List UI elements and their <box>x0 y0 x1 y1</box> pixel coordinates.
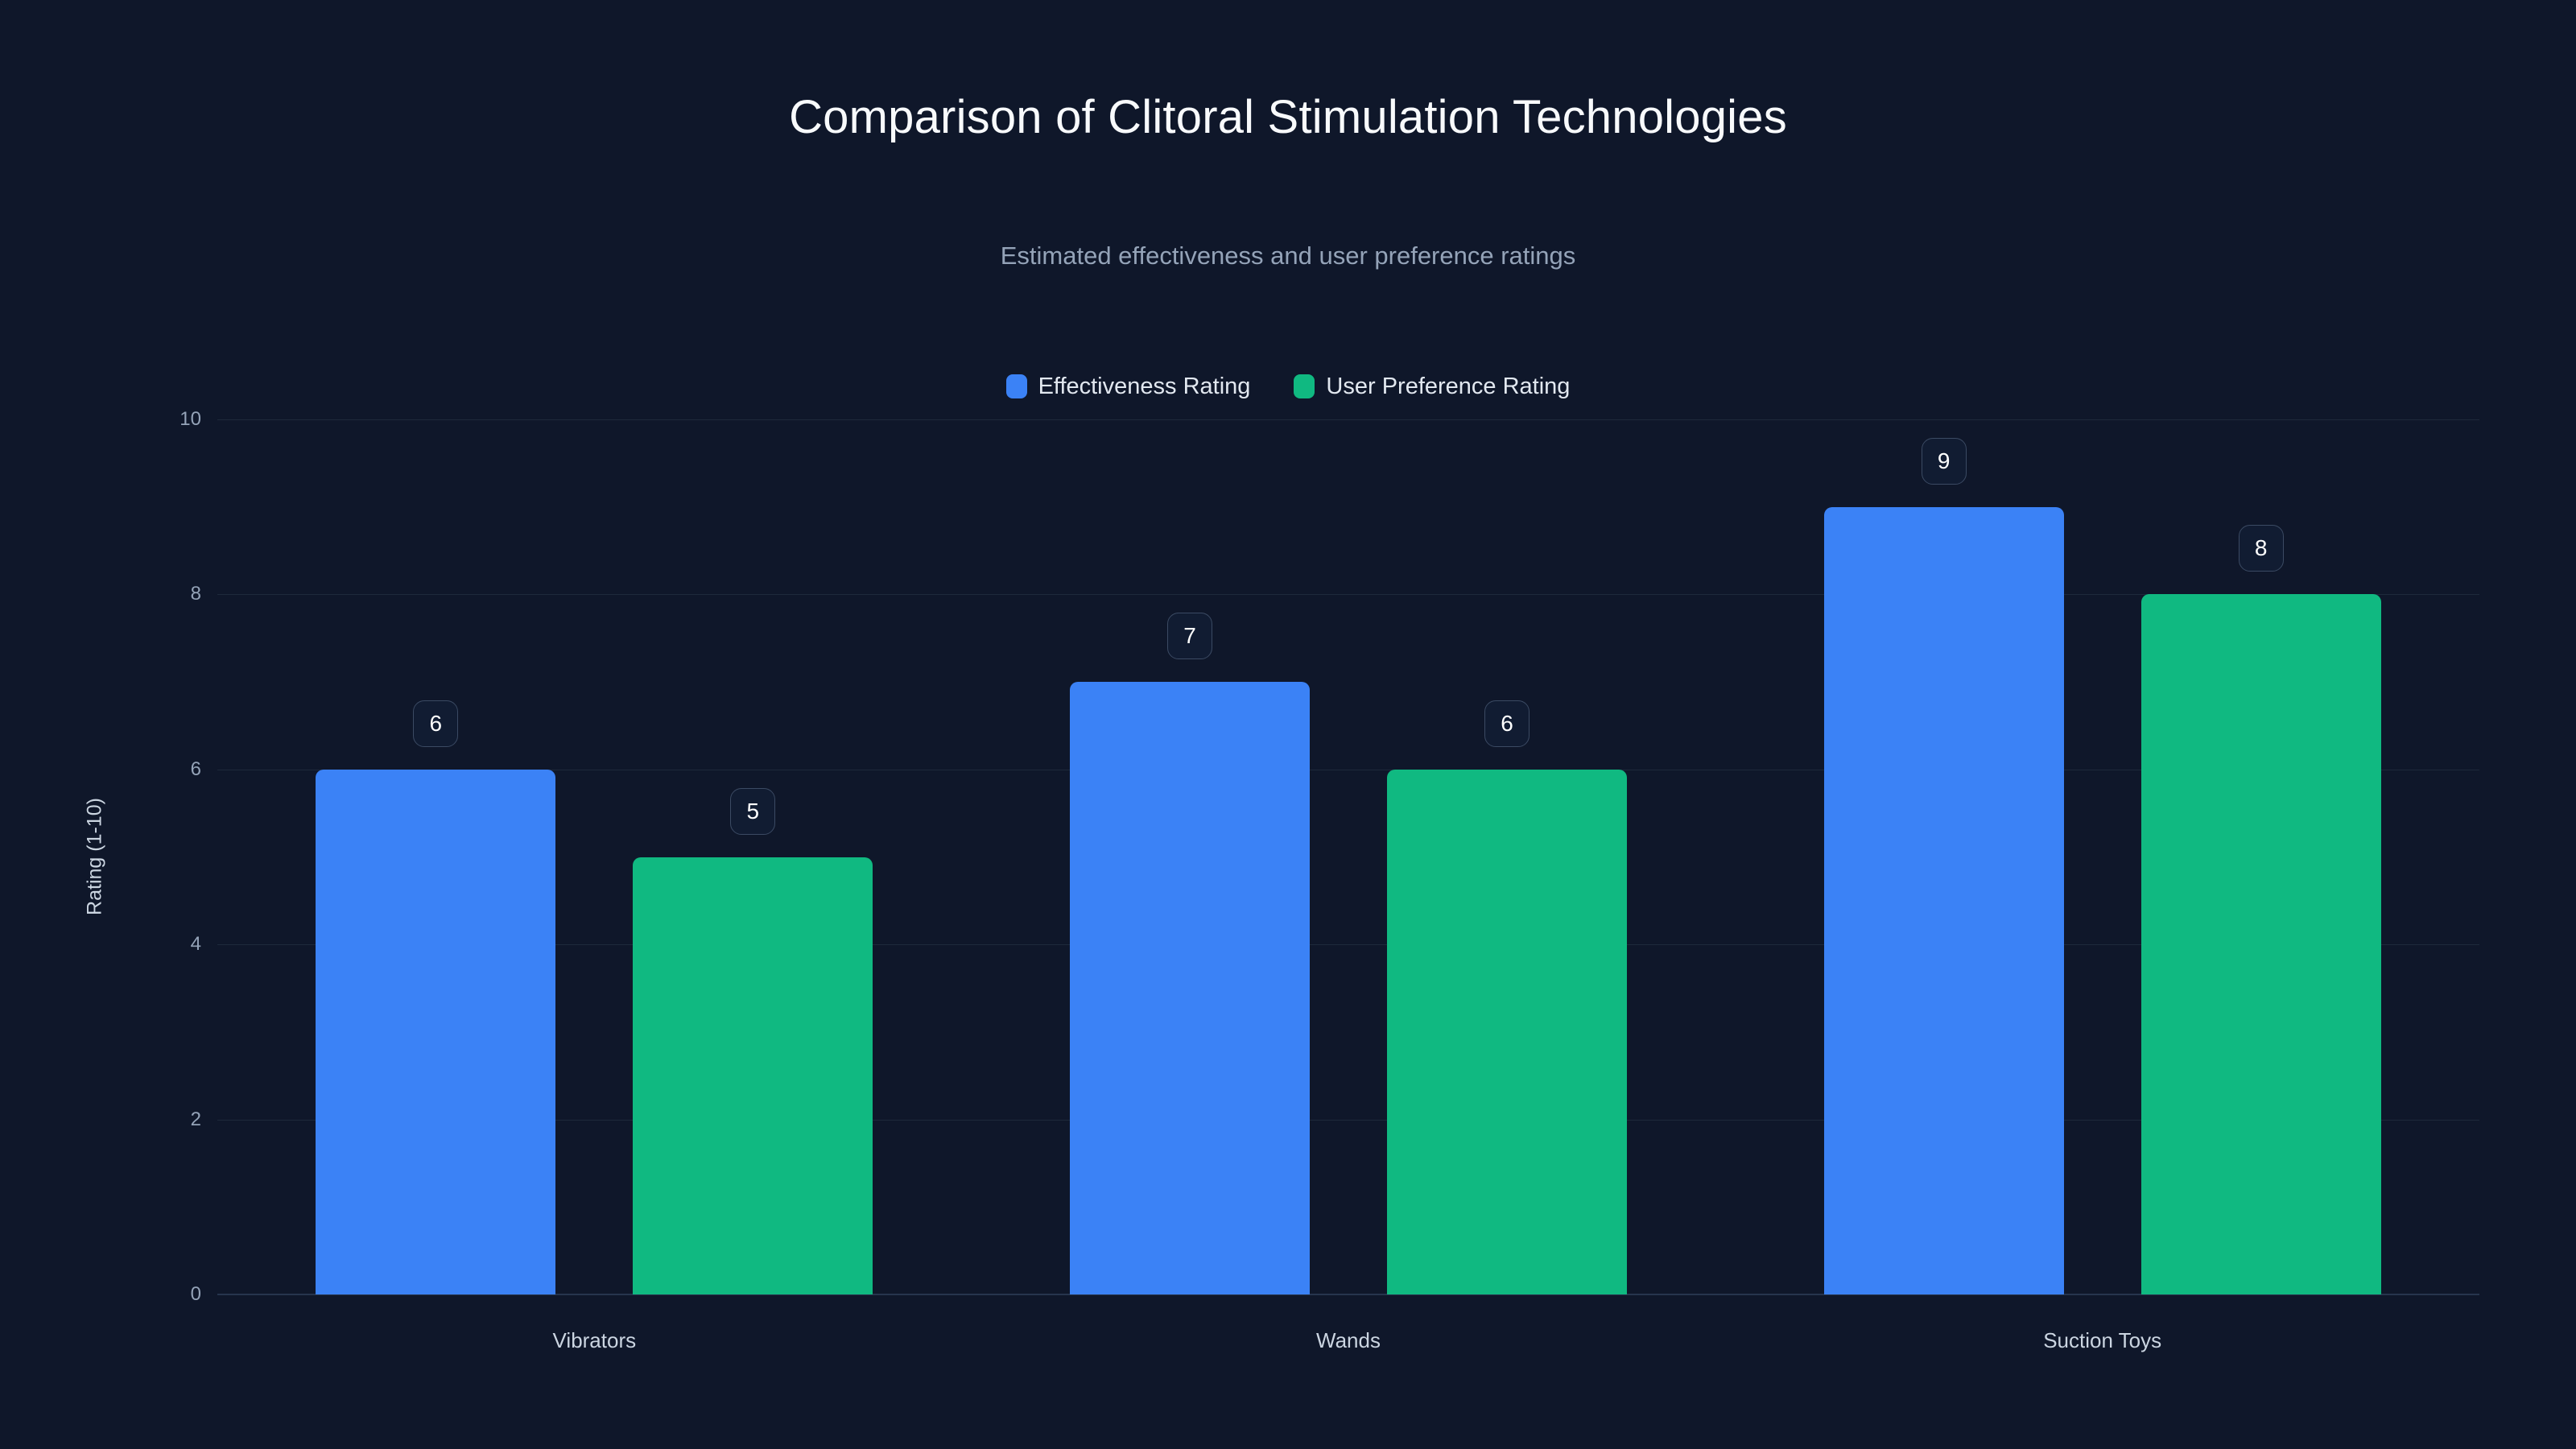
gridline <box>217 594 2479 595</box>
legend-label: Effectiveness Rating <box>1038 375 1251 398</box>
y-tick-label: 4 <box>137 933 201 956</box>
bar[interactable] <box>633 857 873 1295</box>
y-tick-label: 10 <box>137 408 201 431</box>
y-tick-label: 2 <box>137 1108 201 1131</box>
gridline <box>217 770 2479 770</box>
plot-area <box>217 419 2479 1294</box>
y-axis-title: Rating (1-10) <box>84 798 107 915</box>
bar[interactable] <box>316 770 555 1294</box>
value-badge: 6 <box>1484 700 1529 747</box>
bar[interactable] <box>1824 507 2064 1294</box>
x-axis-label: Vibrators <box>553 1328 637 1353</box>
legend-label: User Preference Rating <box>1326 375 1570 398</box>
x-axis-label: Wands <box>1316 1328 1381 1353</box>
value-badge: 8 <box>2239 525 2284 572</box>
bar[interactable] <box>1387 770 1627 1294</box>
gridline <box>217 1120 2479 1121</box>
bar[interactable] <box>2141 594 2381 1294</box>
x-axis-label: Suction Toys <box>2043 1328 2161 1353</box>
bar[interactable] <box>1070 682 1310 1294</box>
gridline <box>217 419 2479 420</box>
chart-legend: Effectiveness RatingUser Preference Rati… <box>0 370 2576 402</box>
chart-title: Comparison of Clitoral Stimulation Techn… <box>0 90 2576 144</box>
legend-swatch-icon <box>1294 374 1315 398</box>
legend-item-1[interactable]: User Preference Rating <box>1294 370 1570 402</box>
value-badge: 7 <box>1167 613 1212 659</box>
value-badge: 5 <box>730 788 775 835</box>
value-badge: 6 <box>413 700 458 747</box>
y-tick-label: 6 <box>137 758 201 781</box>
y-tick-label: 0 <box>137 1283 201 1306</box>
y-tick-label: 8 <box>137 583 201 605</box>
value-badge: 9 <box>1922 438 1967 485</box>
x-axis-line <box>217 1294 2479 1295</box>
legend-item-0[interactable]: Effectiveness Rating <box>1006 370 1251 402</box>
chart-subtitle: Estimated effectiveness and user prefere… <box>0 242 2576 270</box>
gridline <box>217 944 2479 945</box>
chart-canvas: Comparison of Clitoral Stimulation Techn… <box>0 0 2576 1449</box>
legend-swatch-icon <box>1006 374 1027 398</box>
